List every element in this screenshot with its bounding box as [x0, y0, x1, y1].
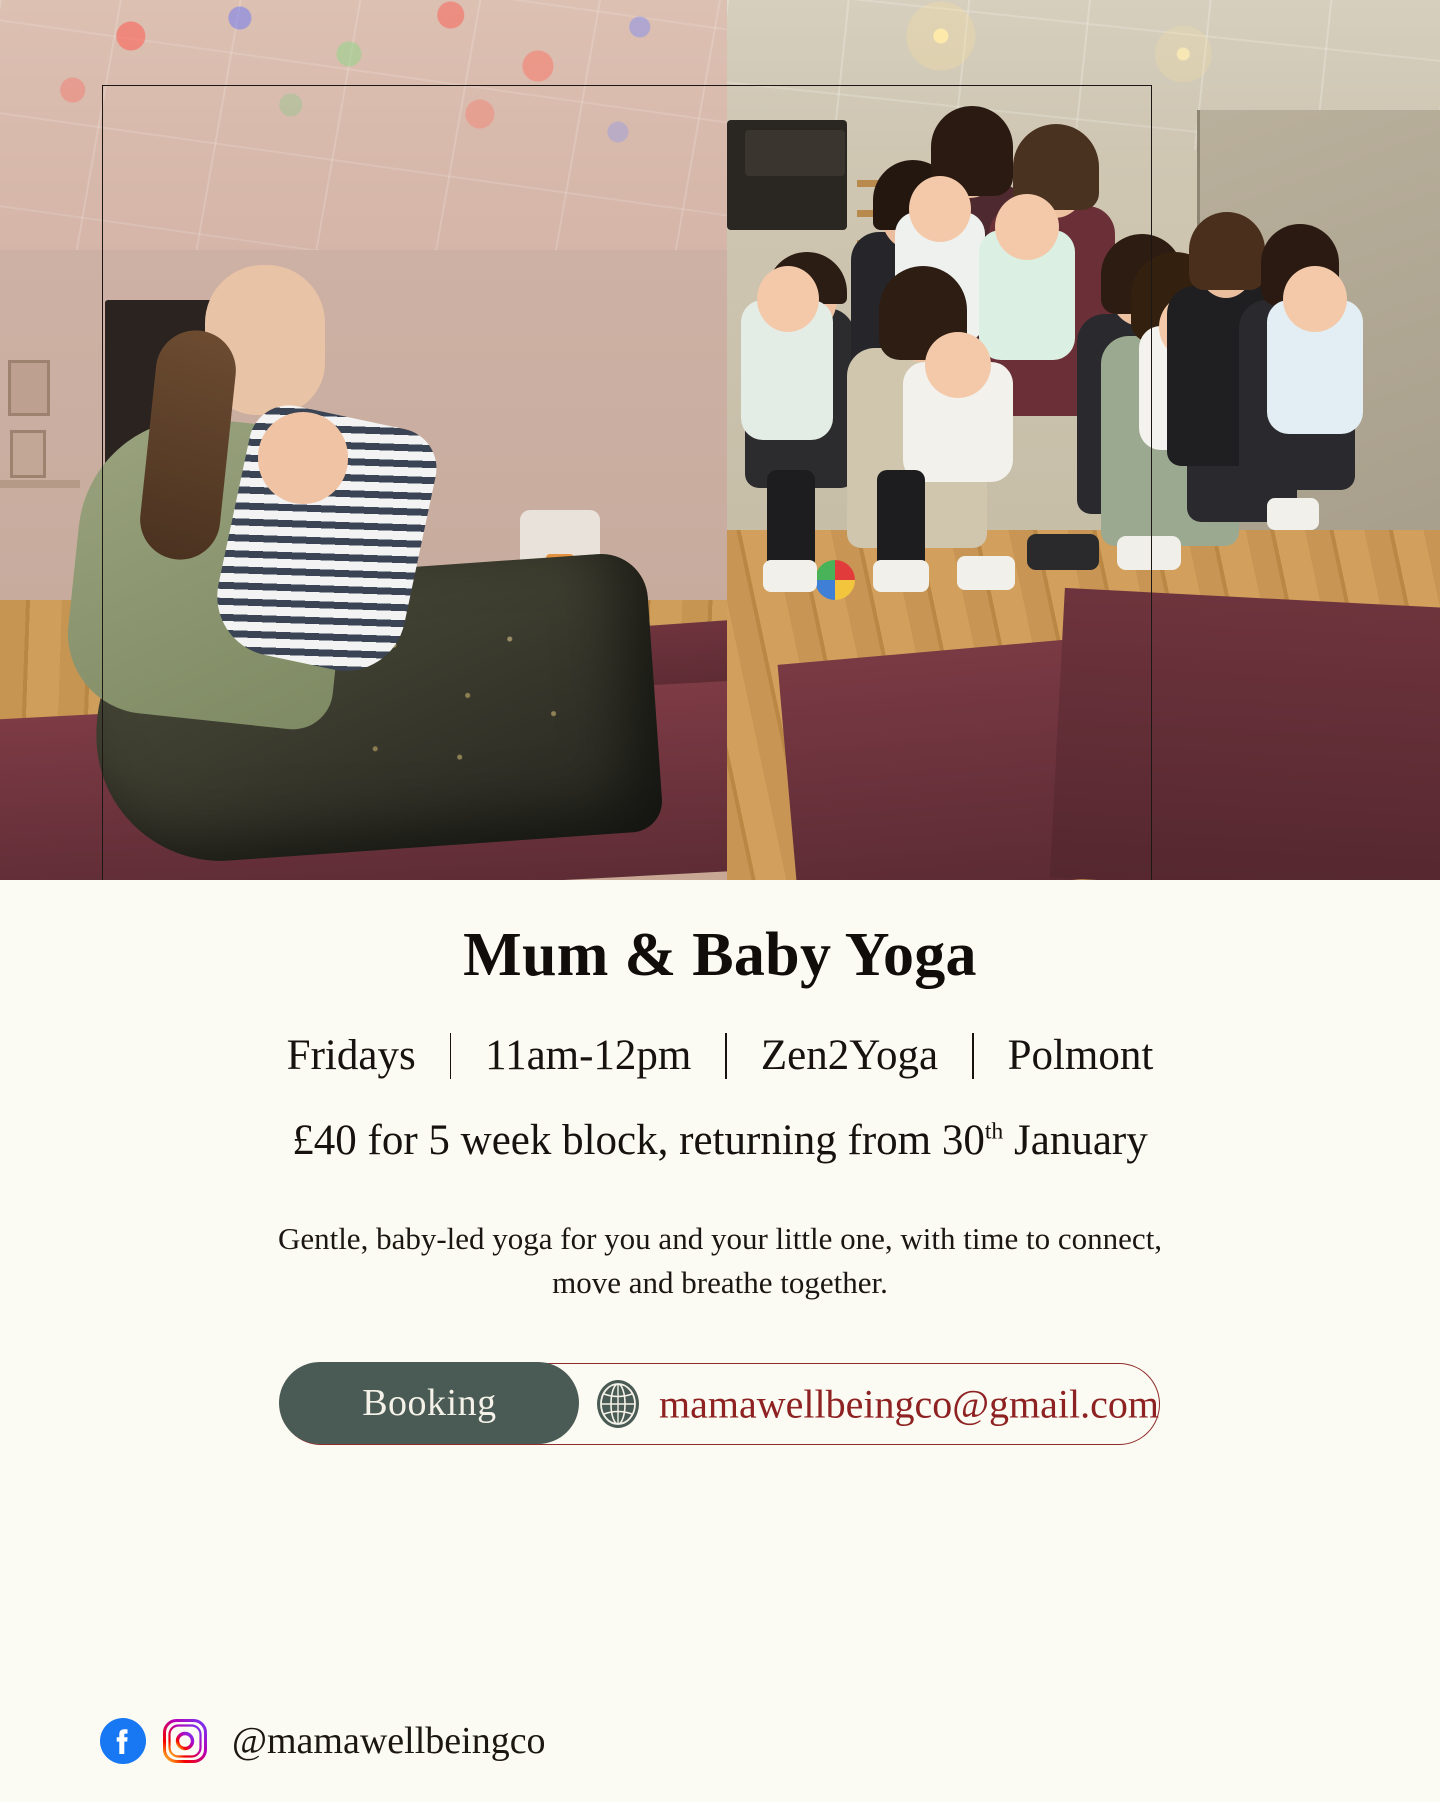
- detail-time: 11am-12pm: [451, 1031, 725, 1080]
- yoga-mat: [1050, 588, 1440, 880]
- baby-sock: [957, 556, 1015, 590]
- globe-icon: [593, 1379, 643, 1429]
- price-prefix: £40 for 5 week block, returning from 30: [292, 1117, 985, 1164]
- detail-venue: Zen2Yoga: [727, 1031, 972, 1080]
- ballet-barre: [0, 480, 80, 488]
- baby-toy-ball: [815, 560, 855, 600]
- baby-face: [258, 412, 348, 504]
- text-panel: Mum & Baby Yoga Fridays 11am-12pm Zen2Yo…: [0, 880, 1440, 1802]
- air-conditioning-unit: [745, 130, 845, 176]
- class-details-row: Fridays 11am-12pm Zen2Yoga Polmont: [0, 1031, 1440, 1080]
- mum-leg: [877, 470, 925, 570]
- baby-sock: [763, 560, 817, 592]
- baby-figure: [1267, 300, 1363, 434]
- poster-root: Mum & Baby Yoga Fridays 11am-12pm Zen2Yo…: [0, 0, 1440, 1802]
- booking-pill[interactable]: Booking mamawellbeingco@gmail.com: [280, 1363, 1160, 1445]
- detail-day: Fridays: [253, 1031, 450, 1080]
- social-handle: @mamawellbeingco: [232, 1719, 546, 1763]
- page-title: Mum & Baby Yoga: [0, 920, 1440, 991]
- trainer: [1027, 534, 1099, 570]
- baby-figure: [741, 300, 833, 440]
- class-description: Gentle, baby-led yoga for you and your l…: [240, 1217, 1200, 1305]
- baby-figure: [979, 230, 1075, 360]
- photo-band: [0, 0, 1440, 880]
- photo-mum-holding-baby-on-yoga-mat: [0, 0, 727, 880]
- booking-label: Booking: [279, 1362, 579, 1444]
- baby-sock: [873, 560, 929, 592]
- baby-figure: [903, 362, 1013, 482]
- price-ordinal: th: [985, 1119, 1003, 1145]
- baby-sock: [1267, 498, 1319, 530]
- booking-email[interactable]: mamawellbeingco@gmail.com: [659, 1381, 1159, 1428]
- instagram-icon[interactable]: [162, 1718, 208, 1764]
- trainer: [1117, 536, 1181, 570]
- price-line: £40 for 5 week block, returning from 30t…: [0, 1116, 1440, 1165]
- photo-group-of-mums-and-babies: [727, 0, 1440, 880]
- price-suffix: January: [1003, 1117, 1147, 1164]
- wall-picture-frame: [8, 360, 50, 416]
- social-footer: @mamawellbeingco: [100, 1718, 546, 1764]
- detail-location: Polmont: [974, 1031, 1188, 1080]
- booking-row: Booking mamawellbeingco@gmail.com: [0, 1363, 1440, 1445]
- facebook-icon[interactable]: [100, 1718, 146, 1764]
- wall-picture-frame: [10, 430, 46, 478]
- mum-leg: [767, 470, 815, 570]
